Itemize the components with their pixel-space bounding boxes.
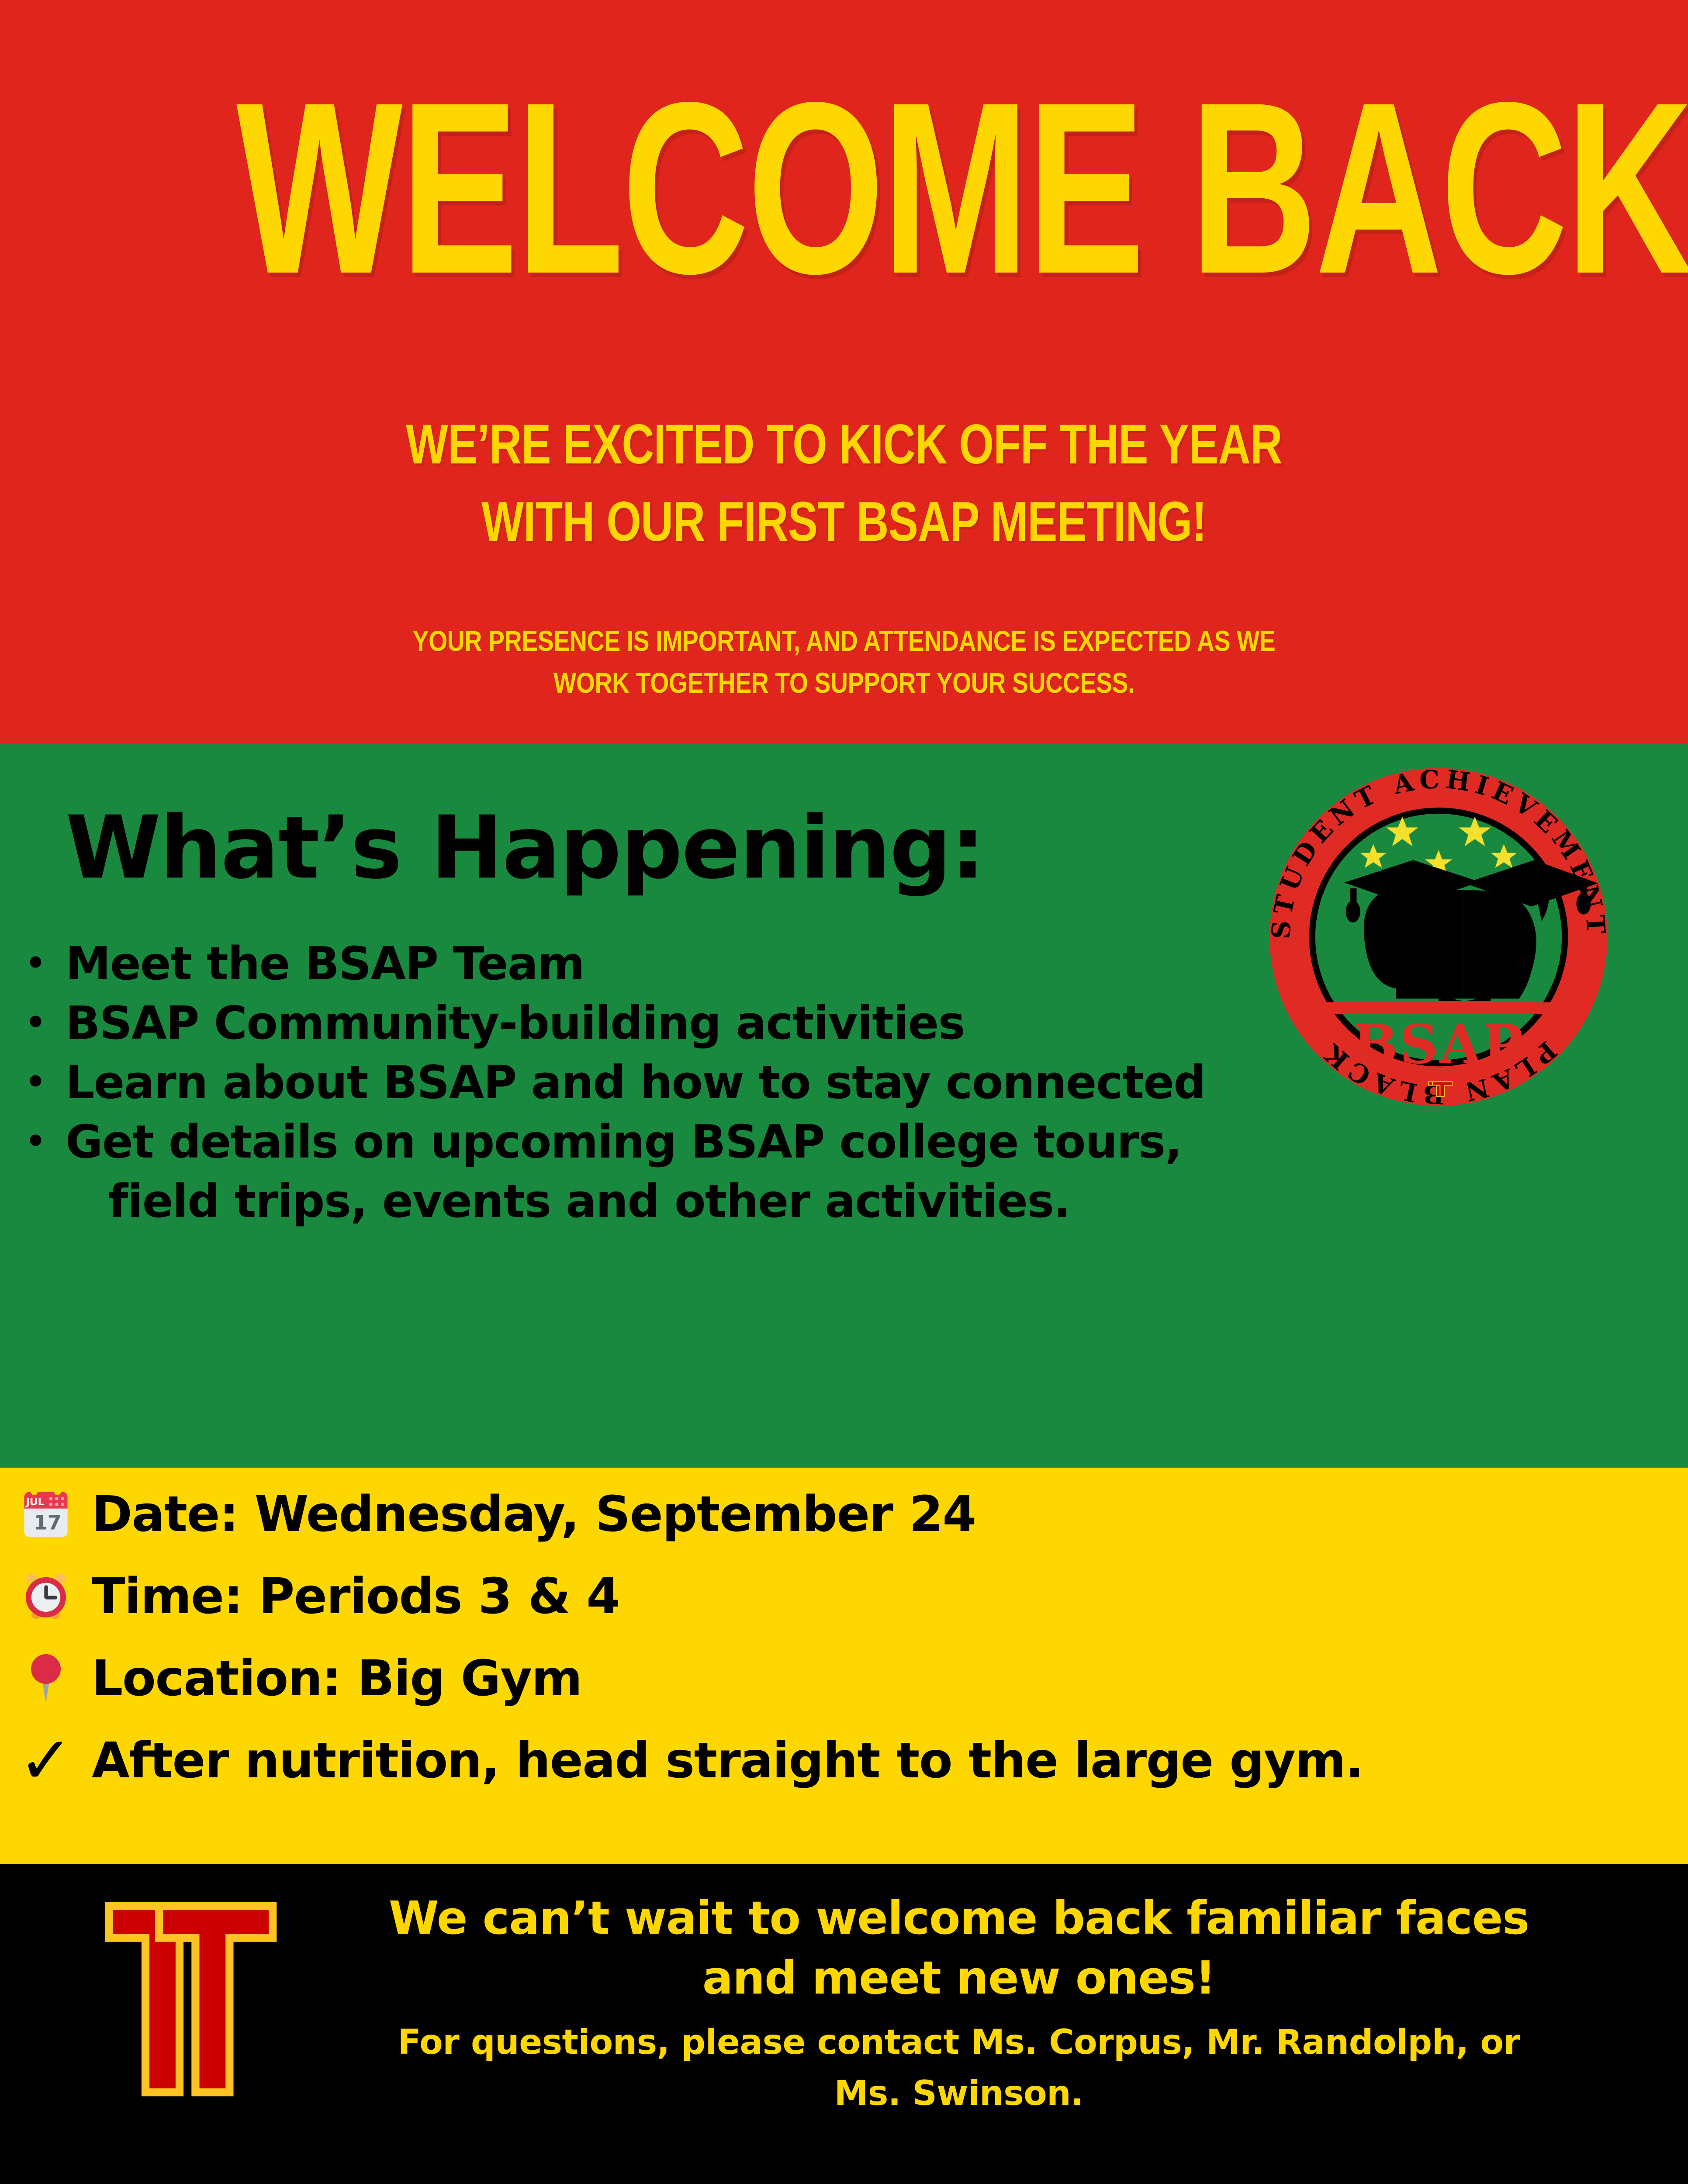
- calendar-day-label: 17: [34, 1511, 62, 1534]
- attendance-note-line-1: YOUR PRESENCE IS IMPORTANT, AND ATTENDAN…: [135, 620, 1553, 662]
- texas-tech-double-t-logo: [97, 1897, 285, 2124]
- list-item-label: Meet the BSAP Team: [66, 938, 584, 989]
- check-glyph: ✓: [18, 1728, 73, 1794]
- subheadline: WE’RE EXCITED TO KICK OFF THE YEAR WITH …: [169, 406, 1519, 560]
- event-details-section: JUL 17 Date: Wednesday, September 24: [0, 1468, 1688, 1864]
- section-heading: What’s Happening:: [66, 805, 984, 891]
- calendar-icon: JUL 17: [0, 1487, 92, 1542]
- detail-instruction-label: After nutrition, head straight to the la…: [92, 1736, 1363, 1785]
- flyer-page: WELCOME BACK ! WE’RE EXCITED TO KICK OFF…: [0, 0, 1688, 2184]
- list-item: • Get details on upcoming BSAP college t…: [0, 1116, 1688, 1168]
- whats-happening-section: What’s Happening: STUDENT ACHIEVEMENT: [0, 743, 1688, 1468]
- detail-location-label: Location: Big Gym: [92, 1654, 582, 1703]
- detail-date-label: Date: Wednesday, September 24: [92, 1490, 976, 1539]
- bullet-marker-icon: •: [0, 1057, 66, 1108]
- attendance-note-line-2: WORK TOGETHER TO SUPPORT YOUR SUCCESS.: [135, 662, 1553, 704]
- list-item-label: Get details on upcoming BSAP college tou…: [66, 1116, 1182, 1168]
- bullet-marker-icon: •: [0, 938, 66, 989]
- footer-contact: For questions, please contact Ms. Corpus…: [306, 2017, 1612, 2119]
- list-item-label: BSAP Community-building activities: [66, 997, 965, 1049]
- happening-list: • Meet the BSAP Team • BSAP Community-bu…: [0, 938, 1688, 1227]
- header-section: WELCOME BACK ! WE’RE EXCITED TO KICK OFF…: [0, 0, 1688, 743]
- bullet-marker-icon: •: [0, 997, 66, 1049]
- footer-message-line-1: We can’t wait to welcome back familiar f…: [332, 1888, 1586, 1948]
- list-item: • BSAP Community-building activities: [0, 997, 1688, 1049]
- alarm-clock-icon: [0, 1571, 92, 1622]
- footer-contact-line-1: For questions, please contact Ms. Corpus…: [306, 2017, 1612, 2068]
- list-item-label: Learn about BSAP and how to stay connect…: [66, 1057, 1205, 1108]
- footer-message-line-2: and meet new ones!: [332, 1948, 1586, 2008]
- footer-message: We can’t wait to welcome back familiar f…: [332, 1888, 1586, 2008]
- detail-row-instruction: ✓ After nutrition, head straight to the …: [0, 1725, 1688, 1796]
- page-title: WELCOME BACK !: [236, 66, 1452, 310]
- detail-row-date: JUL 17 Date: Wednesday, September 24: [0, 1479, 1688, 1550]
- calendar-month-label: JUL: [25, 1496, 44, 1508]
- subheadline-line-2: WITH OUR FIRST BSAP MEETING!: [169, 484, 1519, 561]
- footer-contact-line-2: Ms. Swinson.: [306, 2068, 1612, 2119]
- bullet-marker-icon: •: [0, 1116, 66, 1168]
- detail-row-location: Location: Big Gym: [0, 1643, 1688, 1714]
- check-mark-icon: ✓: [0, 1728, 92, 1794]
- detail-row-time: Time: Periods 3 & 4: [0, 1561, 1688, 1632]
- list-item: • Meet the BSAP Team: [0, 938, 1688, 989]
- subheadline-line-1: WE’RE EXCITED TO KICK OFF THE YEAR: [169, 406, 1519, 484]
- list-item: • Learn about BSAP and how to stay conne…: [0, 1057, 1688, 1108]
- list-item-continuation: field trips, events and other activities…: [108, 1175, 1688, 1227]
- footer-section: We can’t wait to welcome back familiar f…: [0, 1864, 1688, 2184]
- map-pin-icon: [0, 1652, 92, 1705]
- detail-time-label: Time: Periods 3 & 4: [92, 1572, 620, 1621]
- attendance-note: YOUR PRESENCE IS IMPORTANT, AND ATTENDAN…: [135, 620, 1553, 704]
